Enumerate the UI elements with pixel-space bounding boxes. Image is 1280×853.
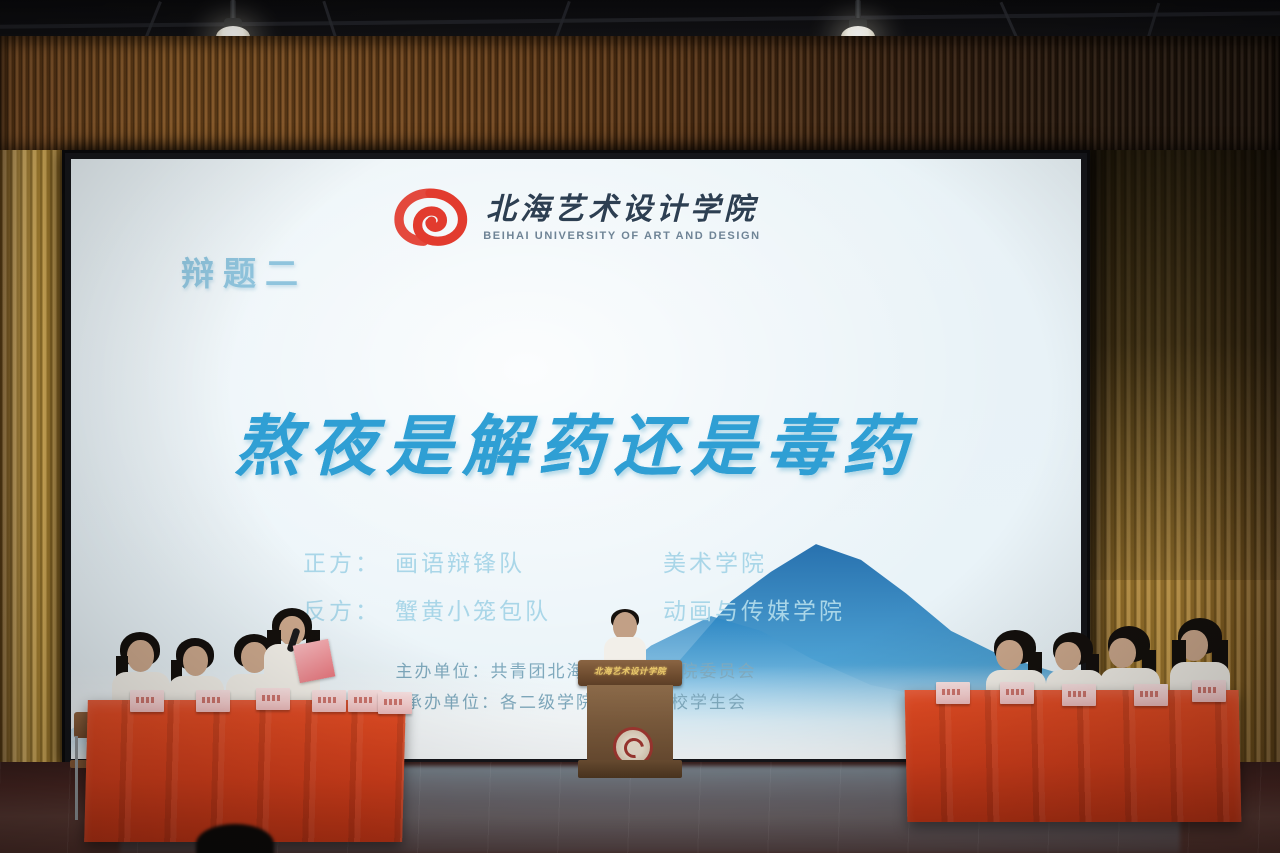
curtain-right-shadow [1074,150,1280,580]
curtain-valance [0,36,1280,156]
name-card [196,690,230,712]
logo-wordmark: 北海艺术设计学院 BEIHAI UNIVERSITY OF ART AND DE… [483,194,760,242]
name-card [348,690,382,712]
name-card [1134,684,1168,706]
name-card [1000,682,1034,704]
name-card [936,682,970,704]
podium: 北海艺术设计学院 [578,660,682,778]
podium-base [578,760,682,778]
name-card [1062,684,1096,706]
team-side-label: 正方： [303,544,395,578]
podium-plaque: 北海艺术设计学院 [588,666,672,679]
name-card [256,688,290,710]
university-logo: 北海艺术设计学院 BEIHAI UNIVERSITY OF ART AND DE… [71,187,1081,249]
name-card [130,690,164,712]
name-card [1192,680,1226,702]
team-name: 画语辩锋队 [395,544,663,578]
name-card [312,690,346,712]
debate-table-left [84,700,406,842]
podium-body [587,685,673,763]
debate-title: 熬夜是解药还是毒药 [71,393,1081,489]
ceiling-truss [0,11,1280,28]
team-college: 动画与传媒学院 [663,592,845,626]
logo-name-en: BEIHAI UNIVERSITY OF ART AND DESIGN [483,230,760,242]
logo-name-cn: 北海艺术设计学院 [486,194,758,226]
script-sheet [293,639,336,683]
team-row: 正方： 画语辩锋队 美术学院 [303,544,943,578]
topic-label: 辩题二 [181,247,307,295]
name-card [378,692,412,714]
spiral-logo-icon [391,187,469,249]
debate-table-right [905,690,1242,822]
stage-photo: 北海艺术设计学院 BEIHAI UNIVERSITY OF ART AND DE… [0,0,1280,853]
team-college: 美术学院 [663,544,767,578]
